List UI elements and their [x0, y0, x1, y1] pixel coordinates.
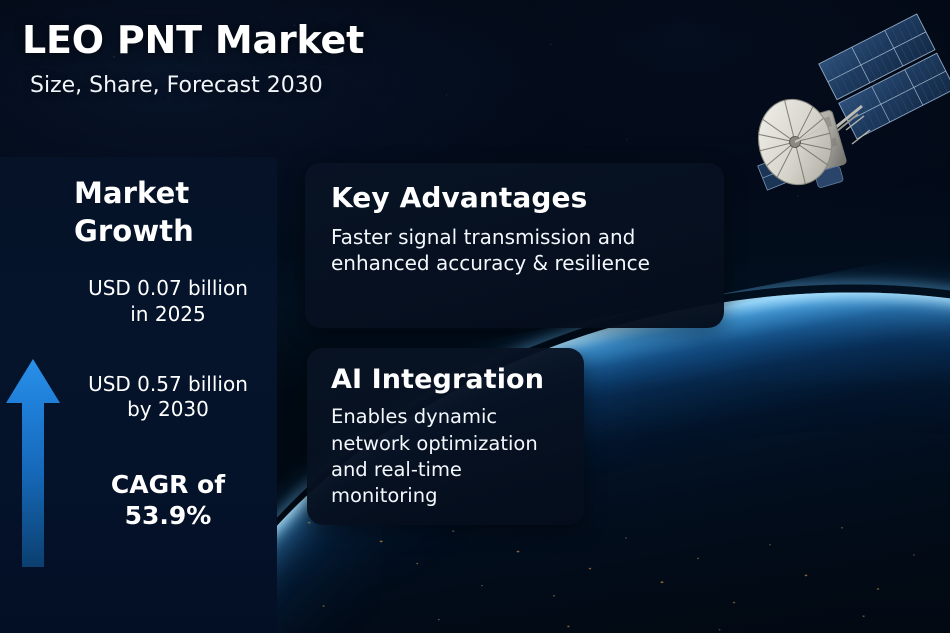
key-advantages-title: Key Advantages	[331, 181, 702, 215]
panel-title-line1: Market	[74, 175, 274, 213]
ai-integration-title: AI Integration	[331, 364, 566, 396]
cagr-value: CAGR of 53.9%	[62, 469, 274, 532]
key-advantages-body: Faster signal transmission and enhanced …	[331, 224, 702, 278]
key-advantages-line1: Faster signal transmission and	[331, 224, 702, 251]
key-advantages-card: Key Advantages Faster signal transmissio…	[305, 163, 724, 328]
panel-title: Market Growth	[62, 175, 274, 250]
stat-current-line2: in 2025	[62, 302, 274, 328]
stat-current-value: USD 0.07 billion in 2025	[62, 276, 274, 327]
cagr-percentage: 53.9%	[62, 500, 274, 531]
infographic-canvas: LEO PNT Market Size, Share, Forecast 203…	[0, 0, 950, 633]
stat-current-line1: USD 0.07 billion	[62, 276, 274, 302]
ai-integration-body: Enables dynamic network optimization and…	[331, 404, 566, 509]
header: LEO PNT Market Size, Share, Forecast 203…	[0, 0, 720, 100]
cagr-label: CAGR of	[62, 469, 274, 500]
up-arrow-icon	[4, 357, 62, 569]
satellite-icon	[742, 2, 950, 212]
ai-integration-line1: Enables dynamic	[331, 404, 566, 430]
key-advantages-line2: enhanced accuracy & resilience	[331, 250, 702, 277]
ai-integration-card: AI Integration Enables dynamic network o…	[307, 348, 584, 525]
stat-future-line2: by 2030	[62, 397, 274, 423]
panel-content: Market Growth USD 0.07 billion in 2025 U…	[62, 175, 274, 531]
page-subtitle: Size, Share, Forecast 2030	[30, 73, 720, 100]
ai-integration-line3: and real-time monitoring	[331, 457, 566, 509]
ai-integration-line2: network optimization	[331, 431, 566, 457]
page-title: LEO PNT Market	[22, 18, 720, 63]
stat-future-value: USD 0.57 billion by 2030	[62, 372, 274, 423]
panel-title-line2: Growth	[74, 213, 274, 251]
stat-future-line1: USD 0.57 billion	[62, 372, 274, 398]
market-growth-panel: Market Growth USD 0.07 billion in 2025 U…	[0, 157, 277, 633]
